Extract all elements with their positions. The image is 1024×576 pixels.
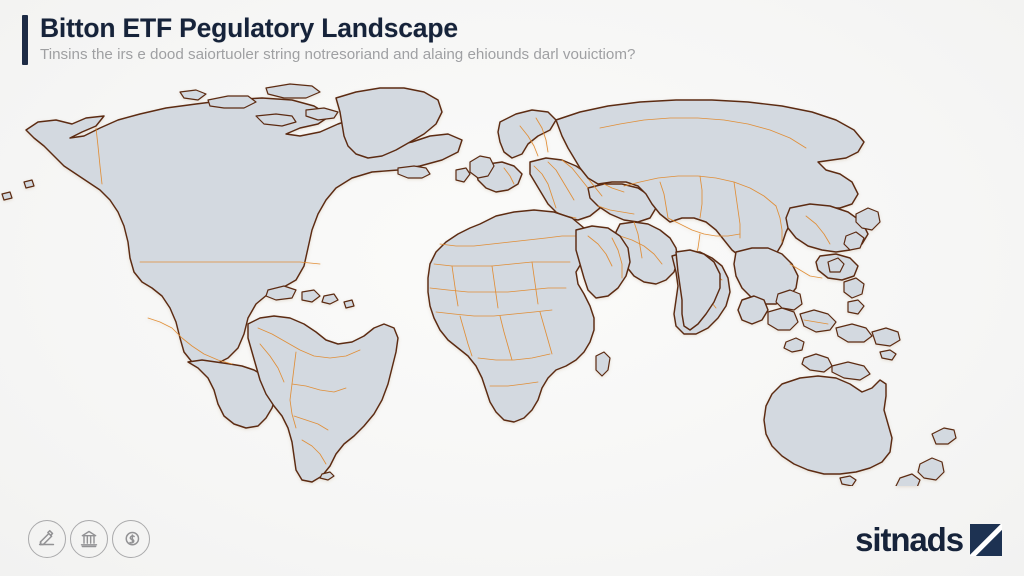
page-subtitle: Tinsins the irs e dood saiortuoler strin… [40, 45, 635, 64]
institution-bank-icon [70, 520, 108, 558]
title-accent-bar [22, 15, 28, 65]
region-southeast-asia [738, 290, 900, 380]
header: Bitton ETF Pegulatory Landscape Tinsins … [22, 12, 984, 65]
region-south-america [248, 316, 398, 482]
map-container [0, 66, 1024, 486]
brand-logo: sitnads [855, 523, 1002, 556]
signature-pen-icon [28, 520, 66, 558]
slide-canvas: Bitton ETF Pegulatory Landscape Tinsins … [0, 0, 1024, 576]
page-title: Bitton ETF Pegulatory Landscape [40, 13, 635, 44]
diagonal-slash-mark [970, 524, 1002, 556]
header-text-block: Bitton ETF Pegulatory Landscape Tinsins … [40, 12, 635, 64]
region-australia [764, 376, 956, 486]
footer-icon-group [28, 520, 150, 558]
world-map [0, 66, 1024, 486]
brand-name: sitnads [855, 523, 963, 556]
coin-currency-icon [112, 520, 150, 558]
